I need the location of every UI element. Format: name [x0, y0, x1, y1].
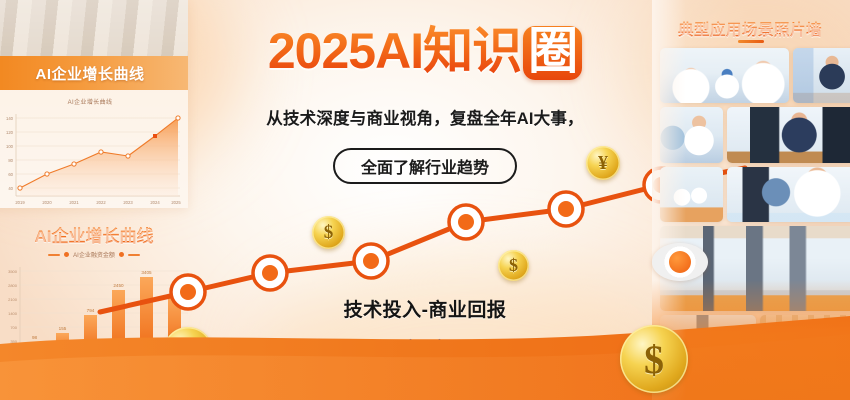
bar-card-title: AI企业增长曲线: [0, 218, 194, 247]
coin-dollar-mid-left: $: [312, 216, 345, 249]
coin-dollar-bottom-right: $: [620, 325, 688, 393]
photo-doctors-lab[interactable]: [660, 48, 789, 103]
svg-text:2020: 2020: [42, 200, 52, 205]
svg-text:2024: 2024: [150, 200, 160, 205]
legend-dot: [119, 252, 124, 257]
svg-text:60: 60: [8, 172, 13, 177]
svg-text:80: 80: [8, 158, 13, 163]
coin-dollar-center: $: [498, 250, 529, 281]
bar-card-legend: AI企业融资金额: [0, 250, 194, 259]
promo-banner: AI企业增长曲线 AI企业增长曲线: [0, 0, 850, 400]
headline-boxed-char: 圈: [523, 26, 582, 80]
svg-text:2022: 2022: [96, 200, 106, 205]
photo-analyst-desk[interactable]: [727, 107, 850, 162]
legend-dot: [64, 252, 69, 257]
svg-text:2021: 2021: [69, 200, 79, 205]
svg-text:2025: 2025: [171, 200, 181, 205]
photo-wall-title-underline: [738, 40, 764, 43]
svg-text:3405: 3405: [141, 270, 152, 275]
photo-cleanroom-team[interactable]: [660, 167, 723, 222]
svg-text:120: 120: [6, 130, 14, 135]
svg-text:2023: 2023: [123, 200, 133, 205]
coin-yen-upper-right: ¥: [586, 146, 620, 180]
svg-text:2450: 2450: [113, 283, 124, 288]
photo-laptop-worker[interactable]: [727, 167, 850, 222]
svg-text:2800: 2800: [8, 283, 18, 288]
svg-text:100: 100: [6, 144, 14, 149]
legend-dash: [128, 254, 140, 256]
photo-wall-title: 典型应用场景照片墙: [654, 18, 846, 40]
photo-engineer-terminal[interactable]: [793, 48, 850, 103]
legend-label: AI企业融资金额: [73, 250, 115, 259]
decorative-dot-badge: [652, 243, 708, 281]
line-marker-group: [171, 168, 678, 309]
cta-pill-button[interactable]: 全面了解行业趋势: [333, 148, 517, 184]
svg-text:2019: 2019: [15, 200, 25, 205]
legend-dash: [48, 254, 60, 256]
photo-clinician-tablet[interactable]: [660, 107, 723, 162]
svg-text:3500: 3500: [8, 269, 18, 274]
headline-main-text: 2025AI知识: [268, 23, 521, 79]
svg-text:40: 40: [8, 186, 13, 191]
bottom-wave-band: [0, 310, 850, 400]
